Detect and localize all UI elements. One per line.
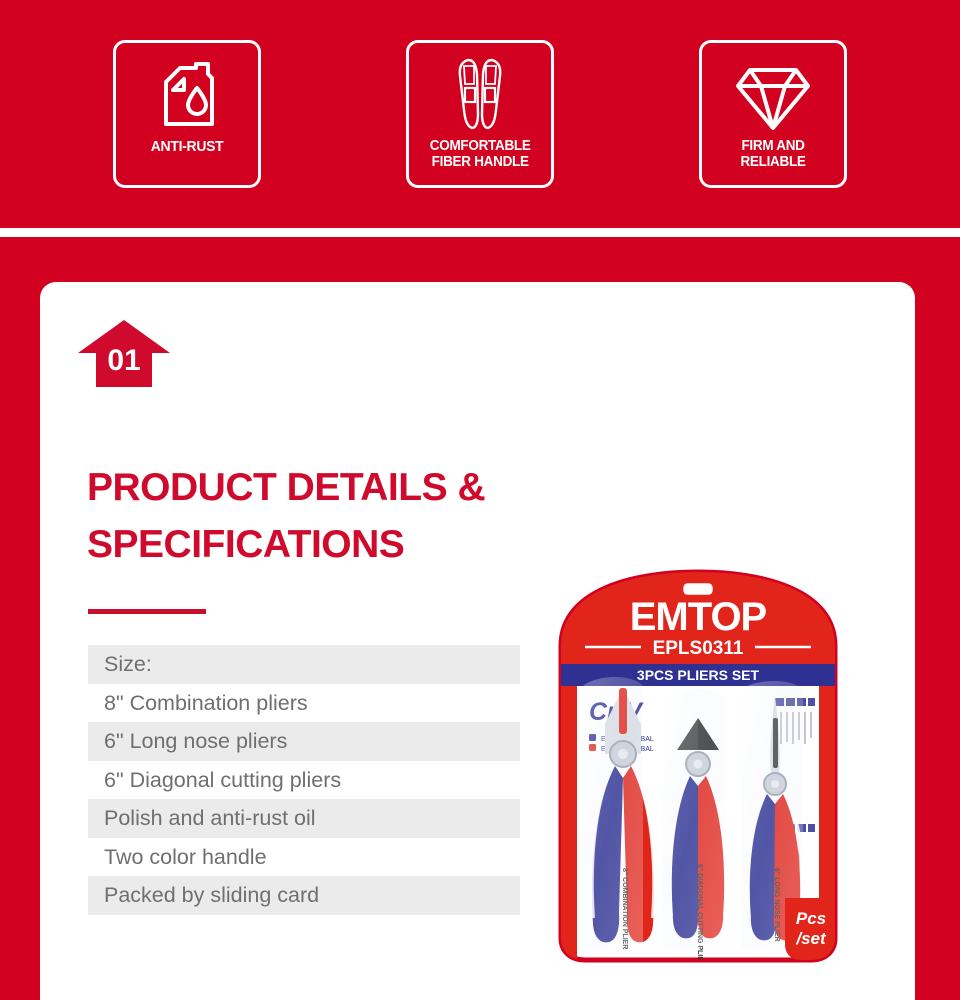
spec-row: Size: [88, 645, 520, 684]
feature-label: ANTI-RUST [151, 139, 224, 155]
spec-row: 6" Diagonal cutting pliers [88, 761, 520, 800]
page-title-line-1: PRODUCT DETAILS & [87, 460, 727, 517]
package-count-badge-top: Pcs [796, 909, 826, 928]
fiber-handle-icon [441, 57, 519, 135]
product-package-image: EMTOP EPLS0311 3PCS PLIERS SET Cr-V EMTO… [523, 568, 873, 968]
feature-label: COMFORTABLE FIBER HANDLE [430, 139, 531, 170]
package-brand-text: EMTOP [630, 595, 767, 639]
spec-row: Two color handle [88, 838, 520, 877]
page-body: 01 PRODUCT DETAILS & SPECIFICATIONS Size… [0, 237, 960, 1000]
page-title: PRODUCT DETAILS & SPECIFICATIONS [87, 460, 727, 573]
feature-card-firm-and-reliable: FIRM AND RELIABLE [699, 40, 847, 188]
banner-divider [0, 228, 960, 237]
oil-can-icon [152, 57, 222, 135]
section-number-label: 01 [78, 344, 170, 378]
title-underline [88, 609, 206, 614]
page-title-line-2: SPECIFICATIONS [87, 517, 727, 574]
package-model-text: EPLS0311 [653, 638, 744, 659]
spec-row: 6" Long nose pliers [88, 722, 520, 761]
spec-row: Polish and anti-rust oil [88, 799, 520, 838]
content-card: 01 PRODUCT DETAILS & SPECIFICATIONS Size… [40, 282, 915, 1000]
spec-row: Packed by sliding card [88, 876, 520, 915]
package-count-badge-bottom: /set [795, 929, 827, 948]
feature-card-comfortable-fiber-handle: COMFORTABLE FIBER HANDLE [406, 40, 554, 188]
spec-row: 8" Combination pliers [88, 684, 520, 723]
specifications-list: Size: 8" Combination pliers 6" Long nose… [88, 645, 520, 915]
feature-label: FIRM AND RELIABLE [740, 139, 805, 170]
diamond-icon [734, 57, 812, 135]
package-set-name-text: 3PCS PLIERS SET [637, 667, 760, 683]
feature-card-anti-rust: ANTI-RUST [113, 40, 261, 188]
feature-banner: ANTI-RUST COMFORTABLE FIBER HANDLE FIRM [0, 0, 960, 228]
